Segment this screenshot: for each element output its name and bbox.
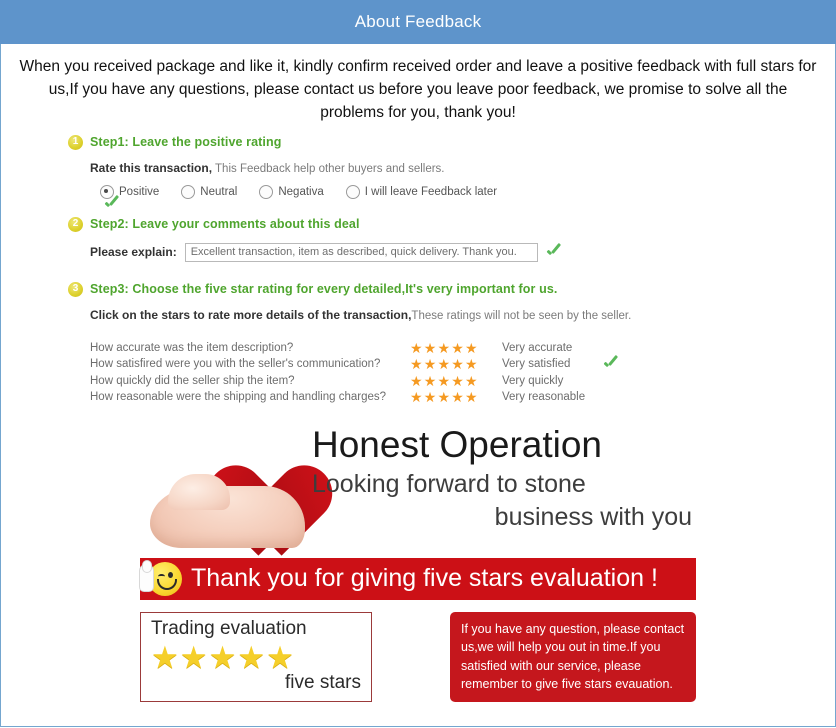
- content-panel: When you received package and like it, k…: [0, 44, 836, 727]
- radio-option-negativa[interactable]: Negativa: [259, 185, 323, 199]
- radio-neutral-label: Neutral: [200, 186, 237, 198]
- rating-word-4: Very reasonable: [502, 389, 585, 406]
- rate-transaction-lead: Rate this transaction, This Feedback hel…: [90, 161, 768, 175]
- thank-you-text: Thank you for giving five stars evaluati…: [191, 566, 658, 591]
- radio-negativa-icon[interactable]: [259, 185, 273, 199]
- about-feedback-page: About Feedback When you received package…: [0, 0, 836, 728]
- radio-positive-label: Positive: [119, 186, 159, 198]
- honest-subline-2: business with you: [312, 501, 696, 534]
- trading-evaluation-subtitle: five stars: [151, 672, 361, 694]
- click-stars-bold: Click on the stars to rate more details …: [90, 308, 411, 322]
- honest-operation-banner: Honest Operation Looking forward to ston…: [140, 418, 696, 550]
- step-3-body: Click on the stars to rate more details …: [68, 308, 768, 406]
- step-1-header: 1 Step1: Leave the positive rating: [68, 135, 768, 150]
- hand-icon: [150, 486, 305, 548]
- honest-headline: Honest Operation: [312, 422, 696, 468]
- honest-subline-1: Looking forward to stone: [312, 468, 696, 501]
- radio-feedback-later-icon[interactable]: [346, 185, 360, 199]
- star-rating-2[interactable]: ★★★★★: [410, 356, 494, 373]
- rating-row: ★★★★★ Very satisfied: [410, 356, 585, 373]
- bottom-boxes: Trading evaluation ★★★★★ five stars If y…: [140, 612, 696, 702]
- star-rating-3[interactable]: ★★★★★: [410, 373, 494, 390]
- honest-operation-text: Honest Operation Looking forward to ston…: [312, 422, 696, 534]
- step-1-body: Rate this transaction, This Feedback hel…: [68, 161, 768, 199]
- green-check-icon-explain: [546, 244, 563, 261]
- rating-row: ★★★★★ Very accurate: [410, 340, 585, 357]
- rating-row: ★★★★★ Very reasonable: [410, 389, 585, 406]
- explain-input[interactable]: [185, 243, 538, 262]
- click-stars-lead: Click on the stars to rate more details …: [90, 308, 768, 322]
- trading-evaluation-box: Trading evaluation ★★★★★ five stars: [140, 612, 372, 702]
- step-1-badge: 1: [68, 135, 83, 150]
- rating-word-3: Very quickly: [502, 373, 563, 390]
- step-2-badge: 2: [68, 217, 83, 232]
- thank-you-banner: Thank you for giving five stars evaluati…: [140, 558, 696, 600]
- explain-row: Please explain:: [90, 243, 768, 262]
- promo-images: Honest Operation Looking forward to ston…: [140, 418, 696, 702]
- trading-evaluation-title: Trading evaluation: [151, 617, 361, 641]
- rate-transaction-rest: This Feedback help other buyers and sell…: [212, 163, 444, 175]
- step-2-body: Please explain:: [68, 243, 768, 262]
- eye-icon: [168, 572, 173, 578]
- intro-paragraph: When you received package and like it, k…: [1, 44, 835, 131]
- steps-container: 1 Step1: Leave the positive rating Rate …: [68, 135, 768, 406]
- radio-option-feedback-later[interactable]: I will leave Feedback later: [346, 185, 497, 199]
- rating-question-3: How quickly did the seller ship the item…: [90, 373, 410, 390]
- radio-neutral-icon[interactable]: [181, 185, 195, 199]
- explain-label: Please explain:: [90, 245, 177, 259]
- rating-question-4: How reasonable were the shipping and han…: [90, 389, 410, 406]
- winking-face-thumbs-up-icon: [148, 562, 182, 596]
- detail-ratings-table: How accurate was the item description? H…: [90, 340, 768, 406]
- step-2-header: 2 Step2: Leave your comments about this …: [68, 217, 768, 232]
- rating-question-1: How accurate was the item description?: [90, 340, 410, 357]
- green-check-icon-positive: [104, 196, 121, 213]
- step-1-title: Step1: Leave the positive rating: [90, 135, 281, 149]
- radio-feedback-later-label: I will leave Feedback later: [365, 186, 497, 198]
- step-3-title: Step3: Choose the five star rating for e…: [90, 282, 557, 296]
- rating-word-1: Very accurate: [502, 340, 572, 357]
- rating-row: ★★★★★ Very quickly: [410, 373, 585, 390]
- step-2-title: Step2: Leave your comments about this de…: [90, 217, 360, 231]
- thumbs-up-icon: [139, 564, 154, 592]
- click-stars-rest: These ratings will not be seen by the se…: [411, 310, 631, 322]
- rating-stars-column: ★★★★★ Very accurate ★★★★★ Very satisfied…: [410, 340, 585, 406]
- rating-questions-column: How accurate was the item description? H…: [90, 340, 410, 406]
- green-check-icon-ratings: [603, 356, 620, 373]
- star-rating-4[interactable]: ★★★★★: [410, 389, 494, 406]
- radio-option-neutral[interactable]: Neutral: [181, 185, 237, 199]
- smile-icon: [157, 579, 177, 590]
- rating-word-2: Very satisfied: [502, 356, 570, 373]
- page-title: About Feedback: [355, 12, 482, 32]
- rate-transaction-bold: Rate this transaction,: [90, 161, 212, 175]
- rating-radio-group: Positive Neutral Negativa I will leave F…: [90, 185, 768, 199]
- page-header: About Feedback: [0, 0, 836, 44]
- radio-negativa-label: Negativa: [278, 186, 323, 198]
- trading-evaluation-stars: ★★★★★: [151, 641, 361, 675]
- rating-question-2: How satisfired were you with the seller'…: [90, 356, 410, 373]
- step-3-header: 3 Step3: Choose the five star rating for…: [68, 282, 768, 297]
- step-3-badge: 3: [68, 282, 83, 297]
- contact-us-box: If you have any question, please contact…: [450, 612, 696, 702]
- star-rating-1[interactable]: ★★★★★: [410, 340, 494, 357]
